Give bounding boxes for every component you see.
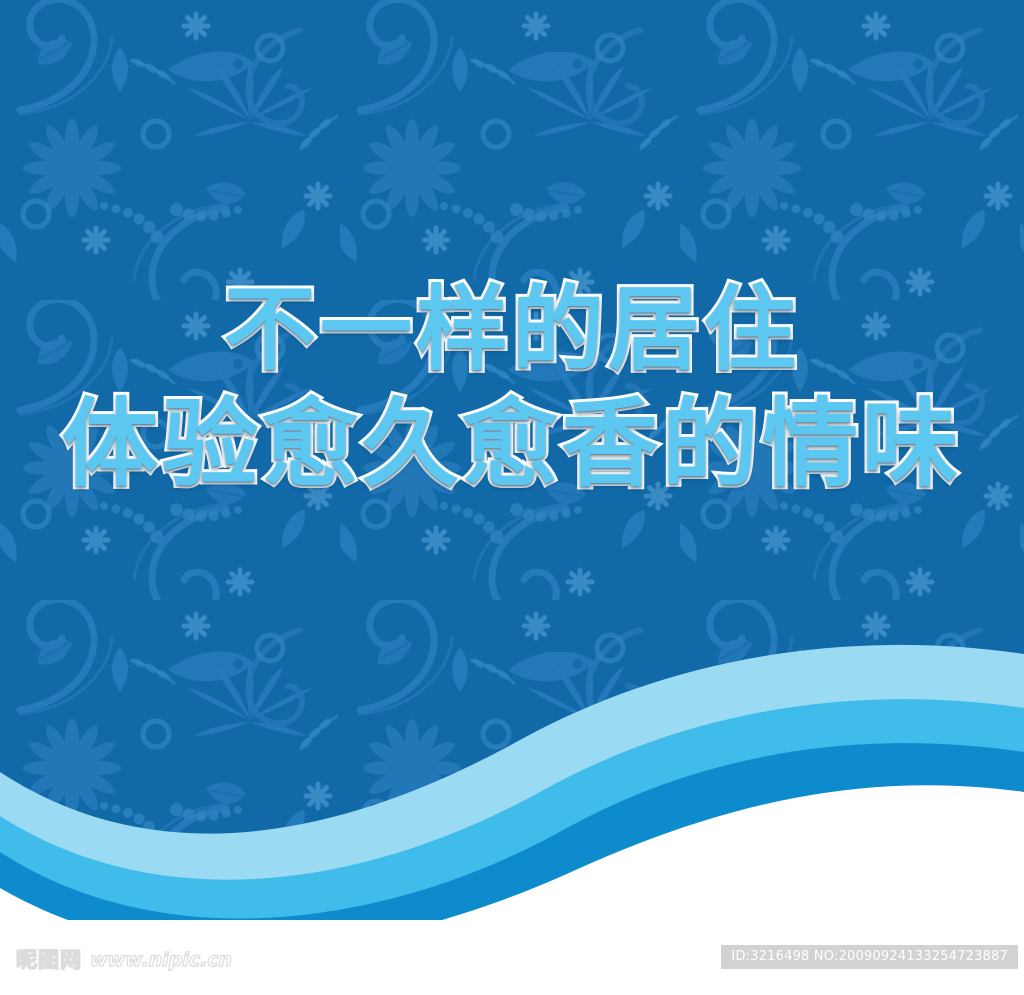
wave-ribbon bbox=[0, 620, 1024, 920]
footer-watermark-bar: 昵图网 www.nipic.cn ID:3216498 NO:200909241… bbox=[0, 935, 1024, 995]
poster-canvas: 不一样的居住 体验愈久愈香的情味 昵图网 www.nipic.cn ID:321… bbox=[0, 0, 1024, 995]
nipic-logo-cn: 昵图网 bbox=[16, 947, 82, 973]
nipic-logo: 昵图网 www.nipic.cn bbox=[16, 947, 232, 973]
image-id-badge: ID:3216498 NO:20090924133254723887 bbox=[721, 945, 1018, 969]
nipic-logo-url: www.nipic.cn bbox=[90, 947, 232, 973]
